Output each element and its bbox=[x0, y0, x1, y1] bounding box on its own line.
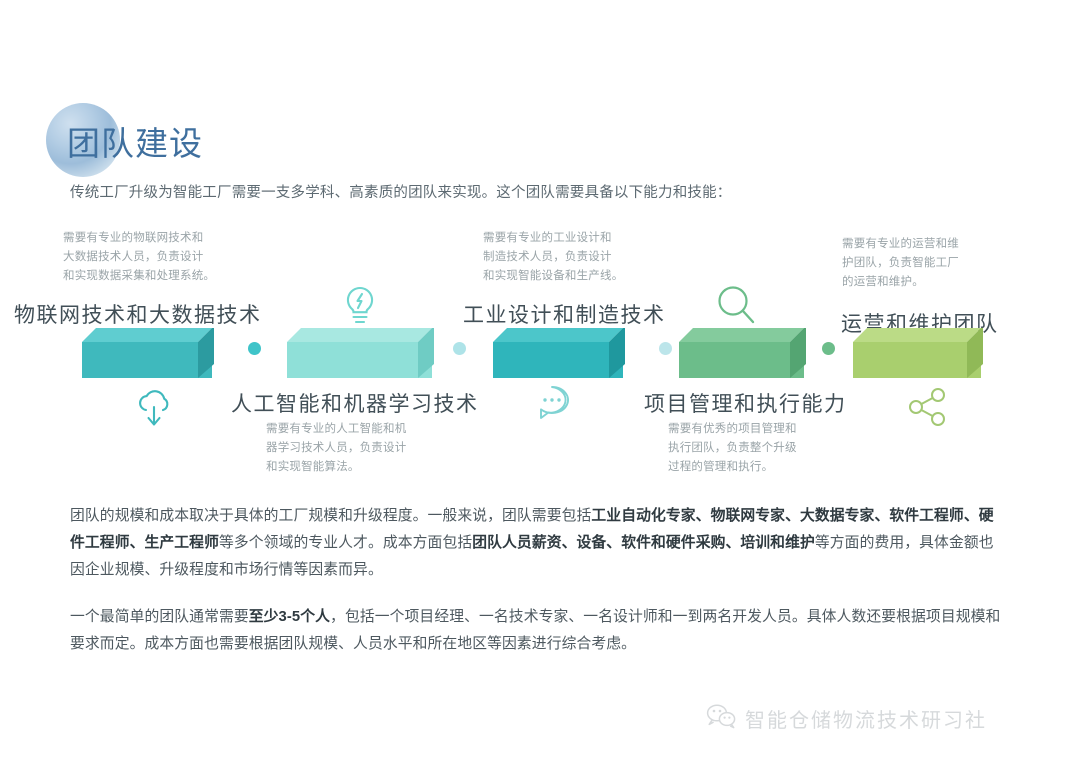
step-4-desc-line-1: 需要有优秀的项目管理和 bbox=[668, 420, 797, 439]
page-title: 团队建设 bbox=[67, 117, 203, 165]
connector-dot-4 bbox=[822, 342, 835, 355]
step-1-box bbox=[82, 328, 212, 378]
step-1-description: 需要有专业的物联网技术和 大数据技术人员，负责设计 和实现数据采集和处理系统。 bbox=[63, 229, 215, 286]
wechat-icon bbox=[706, 703, 736, 734]
step-2-box bbox=[287, 328, 432, 378]
step-4-desc-line-2: 执行团队，负责整个升级 bbox=[668, 439, 797, 458]
step-1-heading: 物联网技术和大数据技术 bbox=[14, 299, 262, 329]
step-2-description: 需要有专业的人工智能和机 器学习技术人员，负责设计 和实现智能算法。 bbox=[266, 420, 406, 477]
paragraph-1-segment-1: 团队的规模和成本取决于具体的工厂规模和升级程度。一般来说，团队需要包括 bbox=[70, 508, 591, 524]
process-diagram: 需要有专业的物联网技术和 大数据技术人员，负责设计 和实现数据采集和处理系统。 … bbox=[0, 215, 1080, 485]
paragraph-2: 一个最简单的团队通常需要至少3-5个人，包括一个项目经理、一名技术专家、一名设计… bbox=[70, 604, 1005, 658]
connector-dot-3 bbox=[659, 342, 672, 355]
connector-dot-2 bbox=[453, 342, 466, 355]
footer-brand: 智能仓储物流技术研习社 bbox=[706, 703, 987, 734]
step-1-desc-line-3: 和实现数据采集和处理系统。 bbox=[63, 267, 215, 286]
footer-text: 智能仓储物流技术研习社 bbox=[745, 704, 987, 733]
step-5-desc-line-3: 的运营和维护。 bbox=[842, 273, 959, 292]
step-1-desc-line-2: 大数据技术人员，负责设计 bbox=[63, 248, 215, 267]
step-2-desc-line-3: 和实现智能算法。 bbox=[266, 458, 406, 477]
step-2-heading: 人工智能和机器学习技术 bbox=[231, 388, 479, 418]
paragraph-1-bold-2: 团队人员薪资、设备、软件和硬件采购、培训和维护 bbox=[472, 535, 815, 551]
share-network-icon bbox=[905, 385, 951, 434]
step-3-desc-line-1: 需要有专业的工业设计和 bbox=[483, 229, 623, 248]
step-3-heading: 工业设计和制造技术 bbox=[463, 299, 666, 329]
step-5-box bbox=[853, 328, 981, 378]
step-4-description: 需要有优秀的项目管理和 执行团队，负责整个升级 过程的管理和执行。 bbox=[668, 420, 797, 477]
step-3-desc-line-3: 和实现智能设备和生产线。 bbox=[483, 267, 623, 286]
step-5-desc-line-2: 护团队，负责智能工厂 bbox=[842, 254, 959, 273]
paragraph-2-segment-1: 一个最简单的团队通常需要 bbox=[70, 609, 249, 625]
search-icon bbox=[714, 283, 760, 334]
step-5-desc-line-1: 需要有专业的运营和维 bbox=[842, 235, 959, 254]
step-2-desc-line-1: 需要有专业的人工智能和机 bbox=[266, 420, 406, 439]
intro-text: 传统工厂升级为智能工厂需要一支多学科、高素质的团队来实现。这个团队需要具备以下能… bbox=[70, 181, 732, 202]
paragraph-1-segment-2: 等多个领域的专业人才。成本方面包括 bbox=[219, 535, 472, 551]
connector-dot-1 bbox=[248, 342, 261, 355]
step-3-description: 需要有专业的工业设计和 制造技术人员，负责设计 和实现智能设备和生产线。 bbox=[483, 229, 623, 286]
step-3-desc-line-2: 制造技术人员，负责设计 bbox=[483, 248, 623, 267]
step-2-desc-line-2: 器学习技术人员，负责设计 bbox=[266, 439, 406, 458]
step-5-description: 需要有专业的运营和维 护团队，负责智能工厂 的运营和维护。 bbox=[842, 235, 959, 292]
step-4-heading: 项目管理和执行能力 bbox=[644, 388, 847, 418]
step-3-box bbox=[493, 328, 623, 378]
slide-page: 团队建设 传统工厂升级为智能工厂需要一支多学科、高素质的团队来实现。这个团队需要… bbox=[0, 0, 1080, 764]
step-1-desc-line-1: 需要有专业的物联网技术和 bbox=[63, 229, 215, 248]
step-4-box bbox=[679, 328, 804, 378]
cloud-download-icon bbox=[133, 388, 175, 435]
lightbulb-idea-icon bbox=[340, 283, 380, 334]
chat-bubble-icon bbox=[530, 382, 574, 429]
step-4-desc-line-3: 过程的管理和执行。 bbox=[668, 458, 797, 477]
paragraph-2-bold-1: 至少3-5个人 bbox=[249, 609, 330, 625]
page-title-block: 团队建设 bbox=[46, 103, 366, 179]
paragraph-1: 团队的规模和成本取决于具体的工厂规模和升级程度。一般来说，团队需要包括工业自动化… bbox=[70, 503, 1005, 584]
